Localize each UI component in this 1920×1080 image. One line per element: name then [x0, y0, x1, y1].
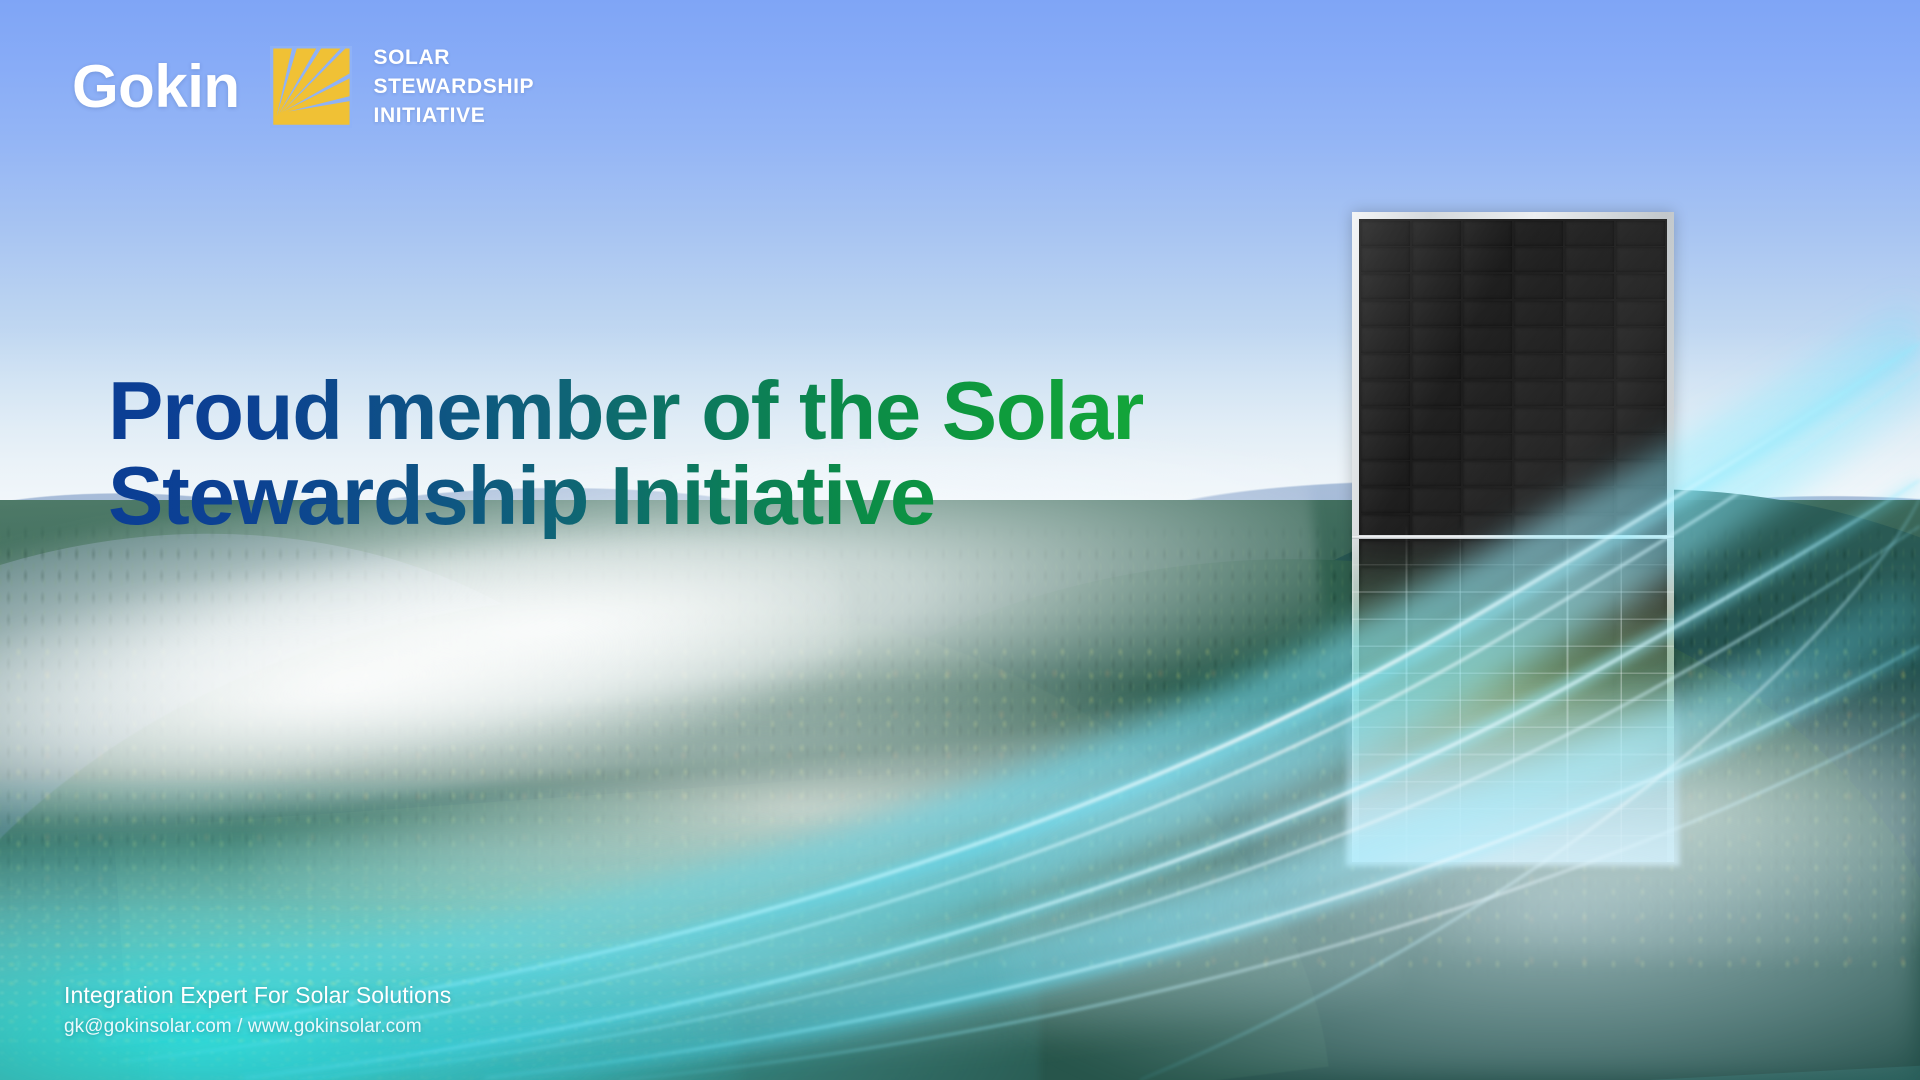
footer-tagline: Integration Expert For Solar Solutions [64, 982, 451, 1009]
brand-header: Gokin [72, 44, 534, 131]
ssi-partner-logo[interactable]: SOLAR STEWARDSHIP INITIATIVE [270, 44, 535, 131]
footer-contact[interactable]: gk@gokinsolar.com / www.gokinsolar.com [64, 1016, 451, 1038]
page-headline: Proud member of the Solar Stewardship In… [108, 368, 1143, 539]
solar-panel-frame [1352, 212, 1674, 862]
ssi-line-3: INITIATIVE [374, 102, 535, 131]
ssi-logo-text: SOLAR STEWARDSHIP INITIATIVE [374, 44, 535, 131]
footer-block: Integration Expert For Solar Solutions g… [64, 982, 451, 1038]
solar-panel-grid-lines [1352, 212, 1674, 862]
promotional-banner: Gokin [0, 0, 1920, 1080]
teal-foliage-speckle [0, 860, 950, 1080]
solar-sunburst-icon [270, 46, 352, 128]
ssi-line-2: STEWARDSHIP [374, 73, 535, 102]
solar-panel-module [1352, 212, 1674, 862]
company-logo-gokin[interactable]: Gokin [72, 57, 240, 117]
ssi-line-1: SOLAR [374, 44, 535, 73]
